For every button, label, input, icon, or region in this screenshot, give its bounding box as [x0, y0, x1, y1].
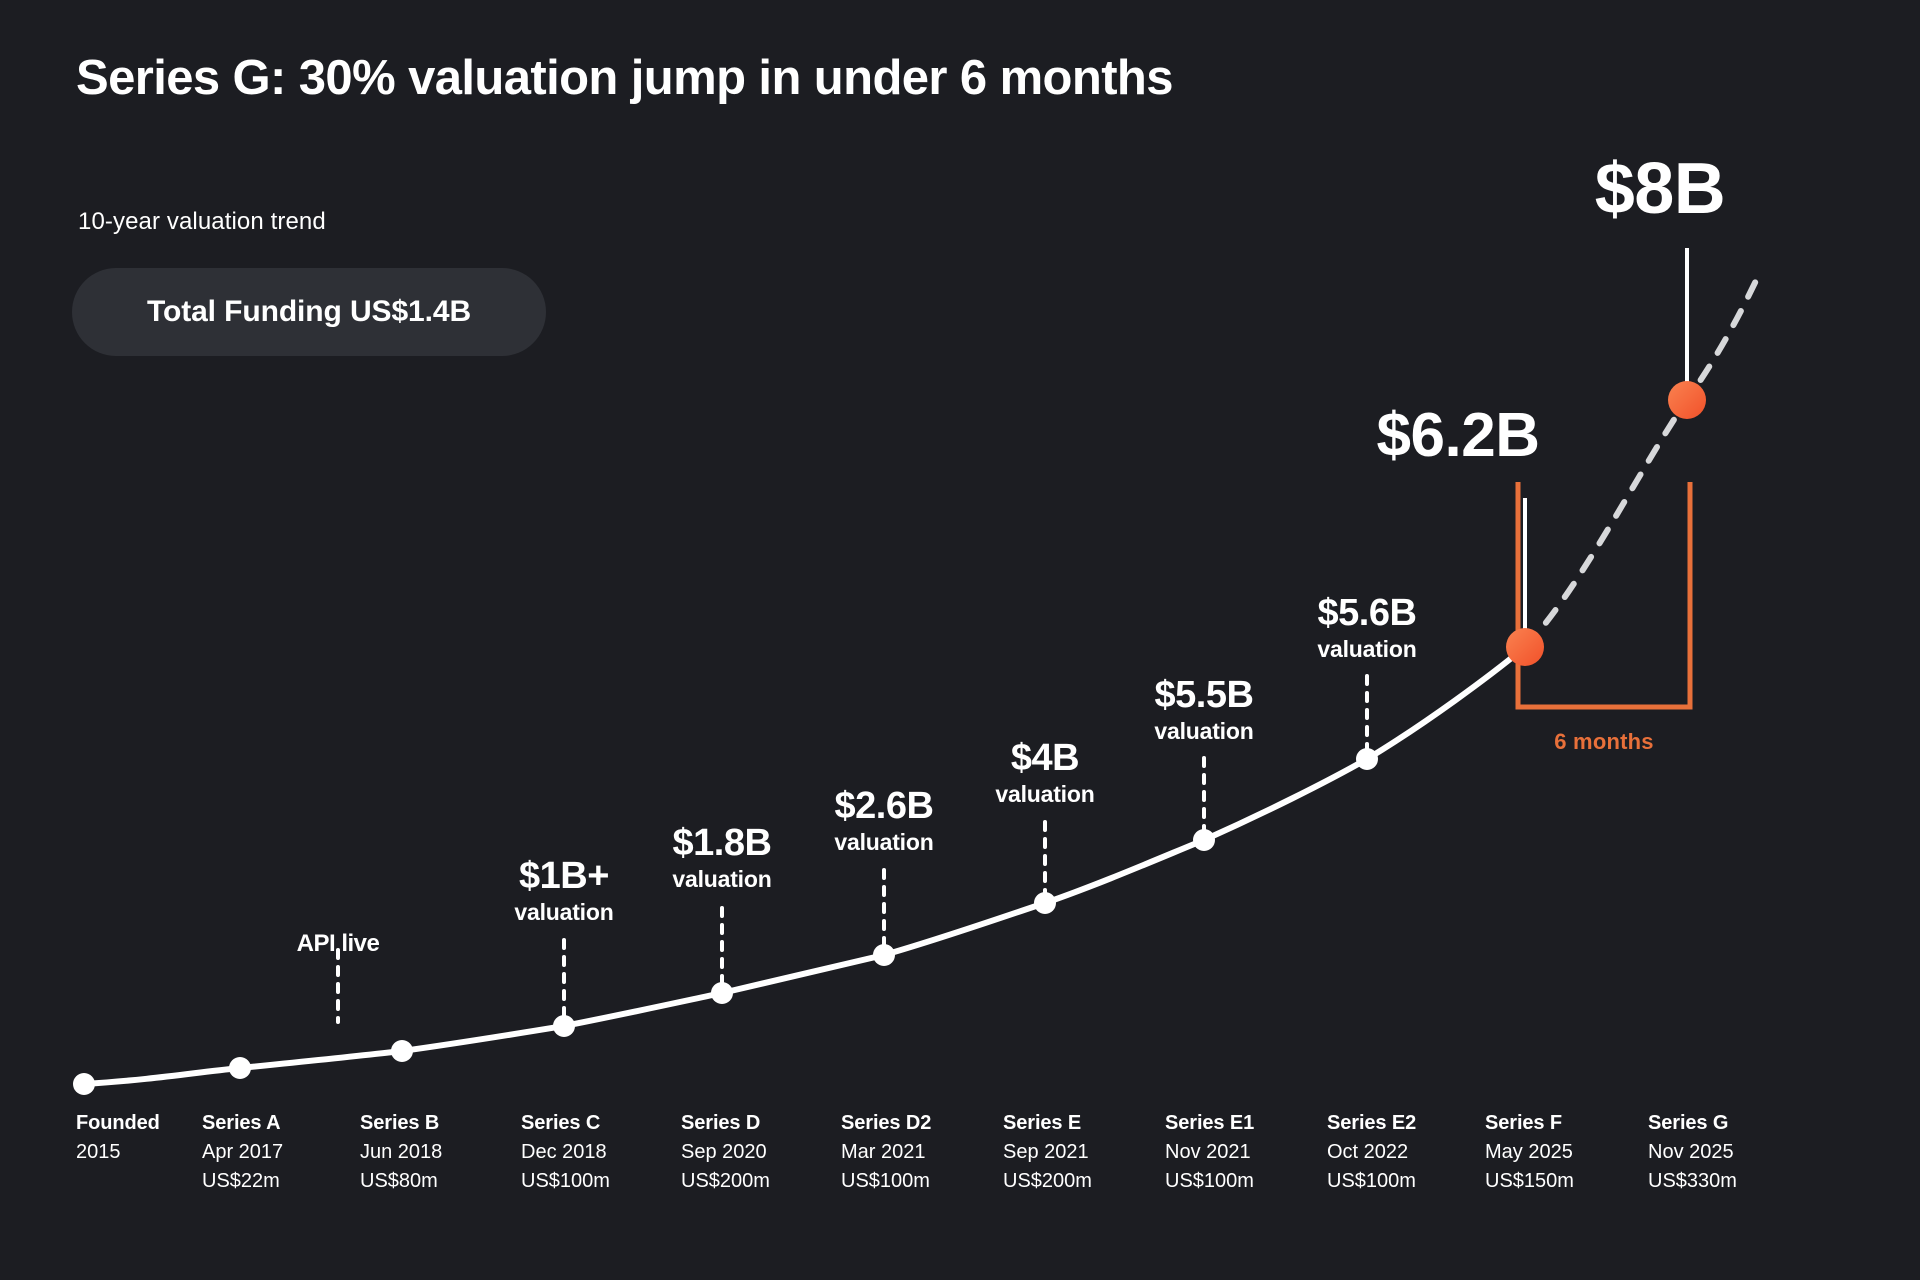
- annotation-series-d2: $2.6B valuation: [834, 785, 933, 856]
- annotation-series-f: $6.2B: [1377, 400, 1540, 471]
- axis-label-founded: Founded 2015: [76, 1112, 160, 1170]
- annotation-series-e1: $5.5B valuation: [1154, 674, 1253, 745]
- six-months-bracket: [1518, 482, 1690, 707]
- dot-series-b[interactable]: [391, 1040, 413, 1062]
- annotation-series-e: $4B valuation: [995, 737, 1094, 808]
- trend-line-projection-dashed: [1525, 268, 1762, 647]
- dot-series-e[interactable]: [1034, 892, 1056, 914]
- trend-line-solid: [84, 647, 1525, 1084]
- six-months-bracket-label: 6 months: [1554, 729, 1653, 755]
- axis-label-series-g: Series G Nov 2025 US$330m: [1648, 1112, 1737, 1193]
- dot-series-e1[interactable]: [1193, 829, 1215, 851]
- axis-label-series-d2: Series D2 Mar 2021 US$100m: [841, 1112, 931, 1193]
- axis-label-series-e1: Series E1 Nov 2021 US$100m: [1165, 1112, 1254, 1193]
- axis-label-series-f: Series F May 2025 US$150m: [1485, 1112, 1574, 1193]
- dot-series-a[interactable]: [229, 1057, 251, 1079]
- dot-founded[interactable]: [73, 1073, 95, 1095]
- axis-label-series-e: Series E Sep 2021 US$200m: [1003, 1112, 1092, 1193]
- axis-label-series-e2: Series E2 Oct 2022 US$100m: [1327, 1112, 1416, 1193]
- infographic-root: Series G: 30% valuation jump in under 6 …: [0, 0, 1920, 1280]
- dot-series-f[interactable]: [1506, 628, 1544, 666]
- annotation-series-e2: $5.6B valuation: [1317, 592, 1416, 663]
- dot-series-c[interactable]: [553, 1015, 575, 1037]
- annotation-api-live: API live: [297, 930, 380, 958]
- dot-series-d[interactable]: [711, 982, 733, 1004]
- dot-series-g[interactable]: [1668, 381, 1706, 419]
- axis-label-series-d: Series D Sep 2020 US$200m: [681, 1112, 770, 1193]
- dot-series-d2[interactable]: [873, 944, 895, 966]
- data-dots: [73, 381, 1706, 1095]
- annotation-series-c: $1B+ valuation: [514, 855, 613, 926]
- axis-label-series-c: Series C Dec 2018 US$100m: [521, 1112, 610, 1193]
- axis-label-series-b: Series B Jun 2018 US$80m: [360, 1112, 442, 1193]
- axis-label-series-a: Series A Apr 2017 US$22m: [202, 1112, 283, 1193]
- dot-series-e2[interactable]: [1356, 748, 1378, 770]
- annotation-series-d: $1.8B valuation: [672, 822, 771, 893]
- annotation-series-g: $8B: [1595, 148, 1726, 230]
